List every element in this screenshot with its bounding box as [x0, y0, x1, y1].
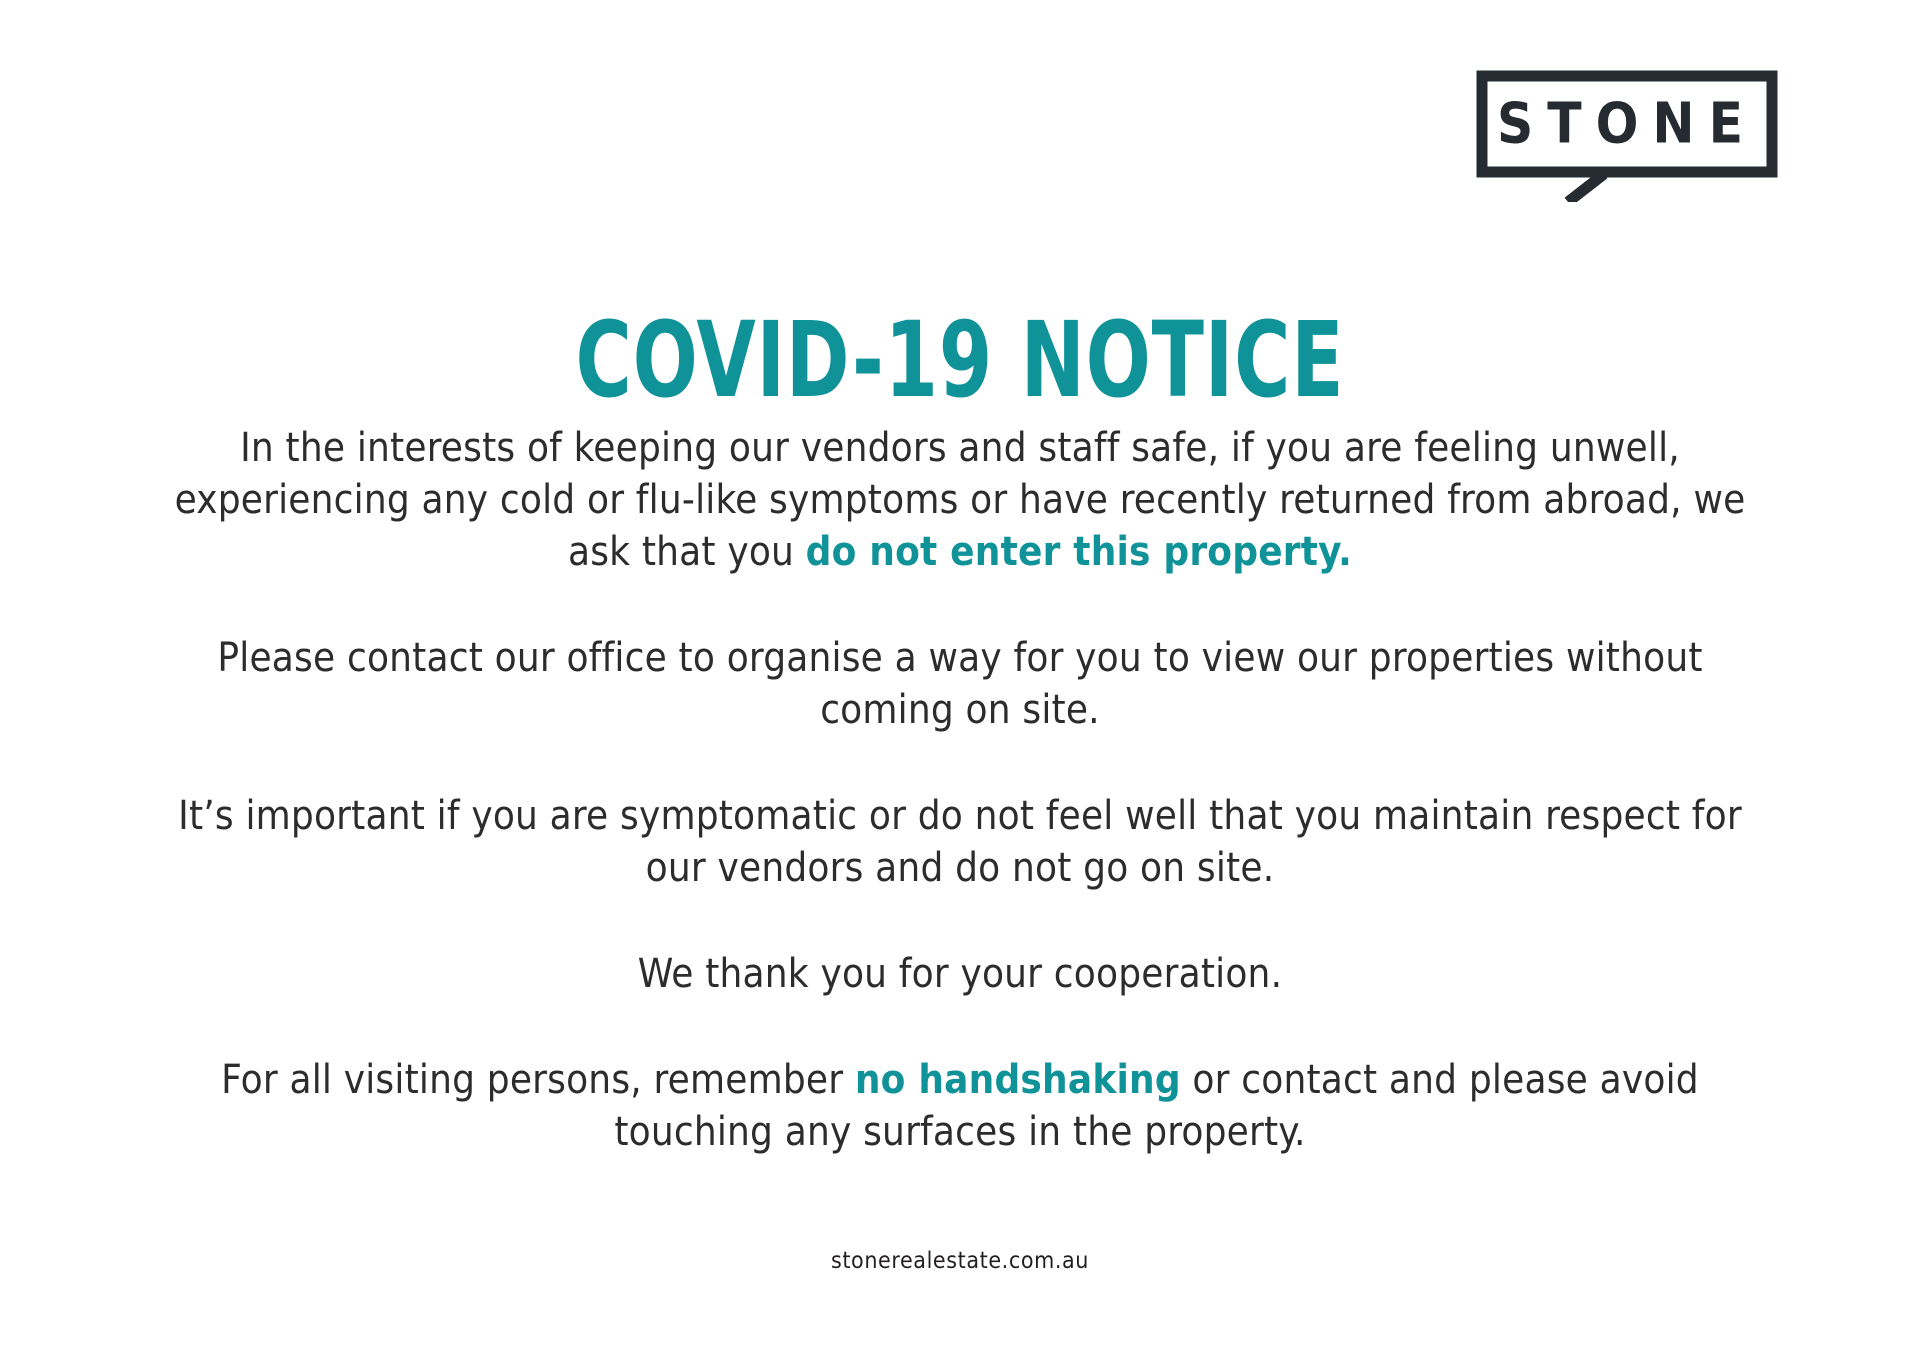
paragraph-no-handshaking: For all visiting persons, remember no ha…	[150, 1054, 1770, 1158]
body-text: For all visiting persons, remember	[221, 1057, 855, 1103]
stone-logo-icon: STONE	[1476, 70, 1778, 202]
paragraph-respect-vendors: It’s important if you are symptomatic or…	[150, 790, 1770, 894]
body-text: Please contact our office to organise a …	[217, 635, 1702, 733]
website-url[interactable]: stonerealestate.com.au	[831, 1248, 1089, 1274]
body-text: We thank you for your cooperation.	[638, 951, 1282, 997]
notice-body: In the interests of keeping our vendors …	[150, 422, 1770, 1158]
page-title: COVID-19 NOTICE	[173, 307, 1747, 413]
paragraph-contact-office: Please contact our office to organise a …	[150, 632, 1770, 736]
emphasis-text: no handshaking	[855, 1057, 1181, 1103]
paragraph-unwell-notice: In the interests of keeping our vendors …	[150, 422, 1770, 578]
stone-logo: STONE	[1476, 70, 1778, 202]
emphasis-text: do not enter this property.	[806, 529, 1352, 575]
covid-notice-page: STONE COVID-19 NOTICE In the interests o…	[0, 0, 1920, 1357]
paragraph-thanks: We thank you for your cooperation.	[150, 948, 1770, 1000]
footer: stonerealestate.com.au	[0, 1248, 1920, 1274]
body-text: It’s important if you are symptomatic or…	[178, 793, 1742, 891]
stone-wordmark: STONE	[1497, 92, 1757, 157]
